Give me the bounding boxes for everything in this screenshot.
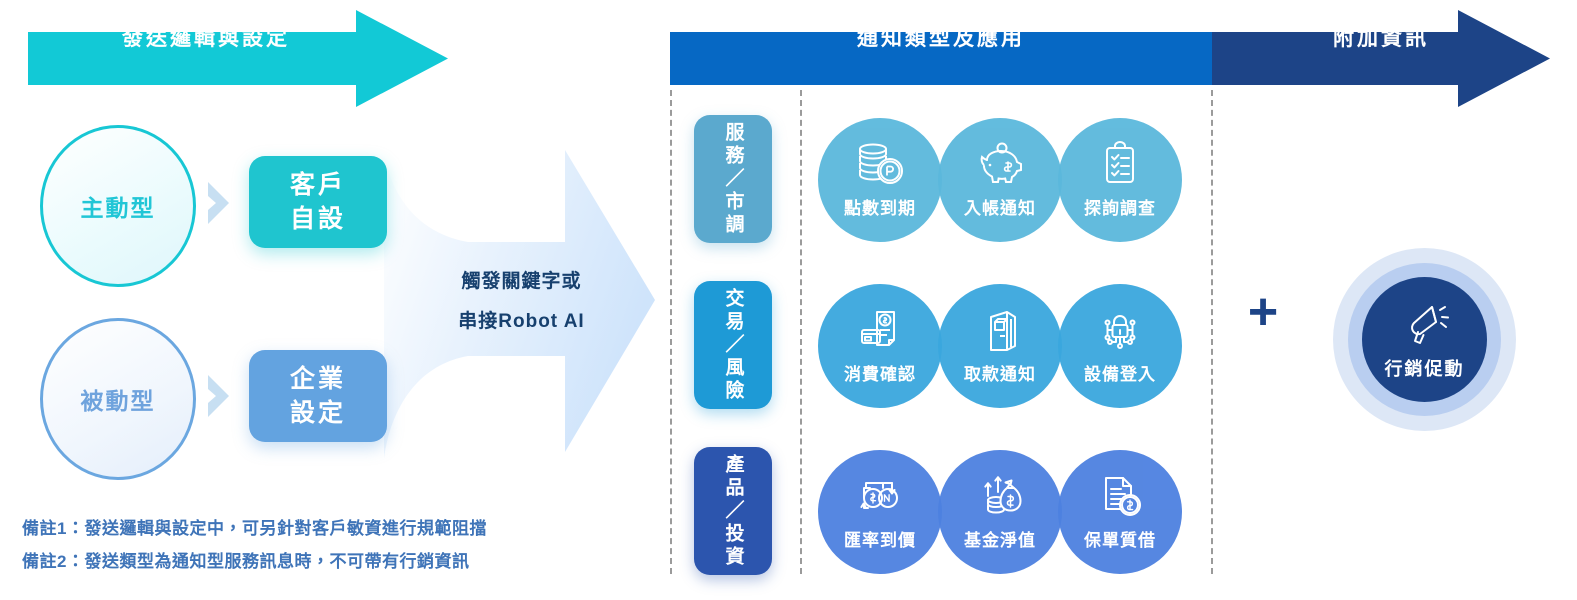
notification-item-fx-rate-alert[interactable]: 匯率到價 bbox=[818, 450, 942, 574]
atm-kiosk-icon bbox=[974, 304, 1026, 356]
trigger-caption-line2: 串接Robot AI bbox=[414, 302, 629, 342]
banner-right-label: 附加資訊 bbox=[1212, 10, 1550, 63]
footnote-1: 備註1：發送邏輯與設定中，可另針對客戶敏資進行規範阻擋 bbox=[22, 512, 642, 545]
category-pill-product-label: 產品／投資 bbox=[720, 454, 747, 569]
notification-item-fund-nav[interactable]: 基金淨值 bbox=[938, 450, 1062, 574]
flow-card-enterprise-setup-line1: 企業 bbox=[290, 362, 346, 396]
divider-dashed-left bbox=[670, 90, 672, 574]
notification-item-device-login[interactable]: 設備登入 bbox=[1058, 284, 1182, 408]
category-pill-service-label: 服務／市調 bbox=[720, 122, 747, 237]
piggy-bank-icon bbox=[974, 138, 1026, 190]
currency-exchange-icon bbox=[854, 470, 906, 522]
banner-middle-label: 通知類型及應用 bbox=[670, 10, 1212, 63]
flow-card-customer-setup-line1: 客戶 bbox=[290, 168, 346, 202]
secure-lock-circuit-icon bbox=[1094, 304, 1146, 356]
category-pill-transaction: 交易／風險 bbox=[694, 281, 772, 409]
notification-item-withdrawal-alert-label: 取款通知 bbox=[964, 360, 1036, 385]
notification-item-fund-nav-label: 基金淨值 bbox=[964, 526, 1036, 551]
flow-card-enterprise-setup: 企業 設定 bbox=[249, 350, 387, 442]
flow-circle-active: 主動型 bbox=[40, 125, 196, 287]
notification-item-purchase-confirm[interactable]: 消費確認 bbox=[818, 284, 942, 408]
footnotes: 備註1：發送邏輯與設定中，可另針對客戶敏資進行規範阻擋 備註2：發送類型為通知型… bbox=[22, 512, 642, 578]
divider-dashed-right bbox=[1211, 90, 1213, 574]
notification-item-deposit-alert[interactable]: 入帳通知 bbox=[938, 118, 1062, 242]
document-dollar-icon bbox=[1094, 470, 1146, 522]
notification-item-survey-label: 探詢調查 bbox=[1084, 194, 1156, 219]
category-pill-transaction-label: 交易／風險 bbox=[720, 288, 747, 403]
chevron-right-icon-1 bbox=[205, 180, 233, 226]
flow-card-customer-setup-line2: 自設 bbox=[290, 202, 346, 236]
footnote-2: 備註2：發送類型為通知型服務訊息時，不可帶有行銷資訊 bbox=[22, 545, 642, 578]
megaphone-icon bbox=[1398, 299, 1452, 351]
clipboard-checklist-icon bbox=[1094, 138, 1146, 190]
flow-card-enterprise-setup-line2: 設定 bbox=[290, 396, 346, 430]
banner-left-label: 發送邏輯與設定 bbox=[28, 10, 384, 63]
notification-item-point-expiry-label: 點數到期 bbox=[844, 194, 916, 219]
plus-sign: + bbox=[1240, 290, 1286, 336]
category-pill-product: 產品／投資 bbox=[694, 447, 772, 575]
notification-item-fx-rate-alert-label: 匯率到價 bbox=[844, 526, 916, 551]
infographic-canvas: 觸發關鍵字或 串接Robot AI 發送邏輯與設定 通知類型及應用 附加資訊 主… bbox=[0, 0, 1577, 600]
notification-item-point-expiry[interactable]: 點數到期 bbox=[818, 118, 942, 242]
flow-card-customer-setup: 客戶 自設 bbox=[249, 156, 387, 248]
credit-card-receipt-icon bbox=[854, 304, 906, 356]
marketing-promotion-label: 行銷促動 bbox=[1385, 355, 1465, 381]
marketing-promotion-item[interactable]: 行銷促動 bbox=[1362, 277, 1487, 402]
notification-item-survey[interactable]: 探詢調查 bbox=[1058, 118, 1182, 242]
notification-item-device-login-label: 設備登入 bbox=[1084, 360, 1156, 385]
coin-stack-point-icon bbox=[854, 138, 906, 190]
trigger-caption: 觸發關鍵字或 串接Robot AI bbox=[414, 262, 629, 342]
notification-item-withdrawal-alert[interactable]: 取款通知 bbox=[938, 284, 1062, 408]
divider-dashed-middle bbox=[800, 90, 802, 574]
flow-circle-passive-label: 被動型 bbox=[81, 382, 156, 416]
chevron-right-icon-2 bbox=[205, 373, 233, 419]
flow-circle-passive: 被動型 bbox=[40, 318, 196, 480]
category-pill-service: 服務／市調 bbox=[694, 115, 772, 243]
notification-item-policy-loan-label: 保單質借 bbox=[1084, 526, 1156, 551]
flow-circle-active-label: 主動型 bbox=[81, 189, 156, 223]
money-bag-growth-icon bbox=[974, 470, 1026, 522]
notification-item-deposit-alert-label: 入帳通知 bbox=[964, 194, 1036, 219]
trigger-caption-line1: 觸發關鍵字或 bbox=[414, 262, 629, 302]
notification-item-purchase-confirm-label: 消費確認 bbox=[844, 360, 916, 385]
notification-item-policy-loan[interactable]: 保單質借 bbox=[1058, 450, 1182, 574]
